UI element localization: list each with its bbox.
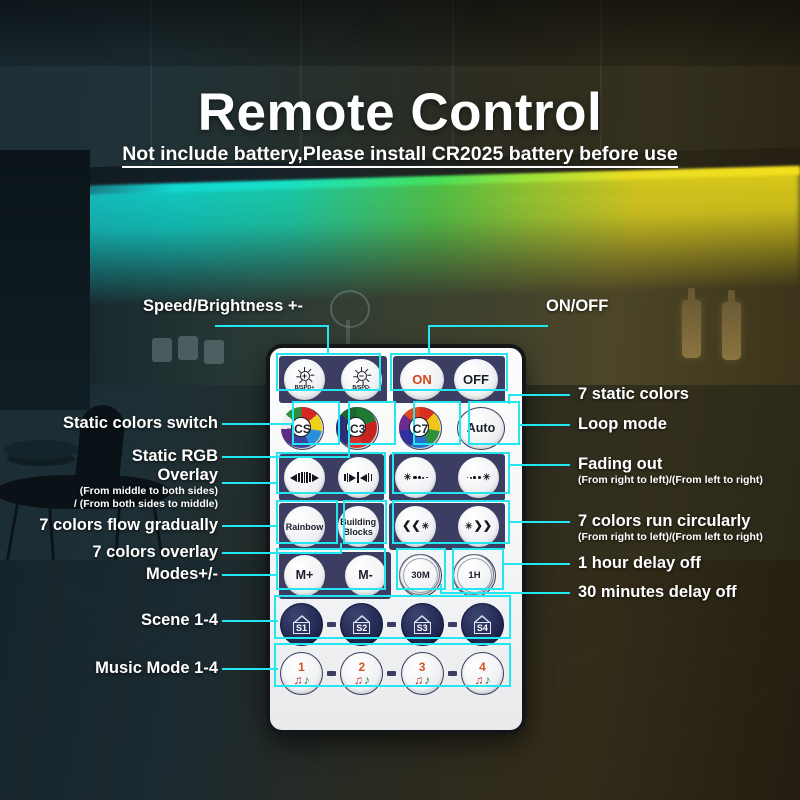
label-static-colors-switch: Static colors switch — [20, 414, 218, 433]
label-static-rgb-overlay: Static RGB Overlay (From middle to both … — [20, 447, 218, 510]
scene-4-label: S4 — [477, 624, 488, 633]
highlight-timer-1h-button — [452, 548, 504, 590]
jar — [152, 338, 172, 362]
leader-line-speed-brightness — [327, 325, 329, 355]
bottle — [682, 300, 701, 358]
timer-30-minutes-label: 30M — [411, 571, 429, 581]
house-icon: S2 — [352, 615, 371, 634]
house-icon: S3 — [413, 615, 432, 634]
highlight-power-group — [390, 353, 508, 391]
leader-line-fading-out — [508, 464, 570, 466]
leader-line-7-colors-overlay — [222, 552, 342, 554]
leader-line-overlay — [222, 482, 278, 484]
bottle — [722, 302, 741, 360]
fan-head-icon — [330, 290, 370, 328]
label-7-colors-flow-gradually: 7 colors flow gradually — [8, 516, 218, 535]
scene-1-label: S1 — [296, 624, 307, 633]
highlight-building-blocks-button — [343, 500, 387, 544]
cs-button-label: CS — [294, 423, 311, 435]
c7-button-label: C7 — [413, 423, 428, 435]
leader-line-7-colors-flow — [222, 525, 278, 527]
leader-line-music-mode — [222, 668, 278, 670]
highlight-auto-button — [468, 401, 520, 445]
page-subtitle-text: Not include battery,Please install CR202… — [122, 143, 678, 168]
house-icon: S4 — [473, 615, 492, 634]
label-loop-mode: Loop mode — [578, 415, 667, 434]
label-scene-1-4: Scene 1-4 — [8, 611, 218, 630]
highlight-circular-group — [392, 500, 510, 544]
leader-line-speed-brightness — [215, 325, 329, 327]
jar — [204, 340, 224, 364]
highlight-modes-group — [276, 548, 386, 590]
leader-line-scene — [222, 620, 278, 622]
leader-line-on-off — [428, 325, 430, 355]
leader-line-loop-mode — [518, 424, 570, 426]
house-icon: S1 — [292, 615, 311, 634]
label-fading-out: Fading out (From right to left)/(From le… — [578, 455, 763, 487]
left-wall-shadow — [0, 150, 90, 410]
page-subtitle: Not include battery,Please install CR202… — [0, 143, 800, 166]
highlight-brightness-group — [276, 353, 381, 391]
highlight-overlay-group — [276, 452, 386, 494]
leader-line-static-rgb — [222, 456, 350, 458]
label-7-colors-overlay: 7 colors overlay — [8, 543, 218, 562]
label-7-static-colors: 7 static colors — [578, 385, 689, 404]
page-title: Remote Control — [0, 82, 800, 143]
jar — [178, 336, 198, 360]
leader-line-1-hour-delay — [502, 563, 570, 565]
screenshot-stage: Remote Control Not include battery,Pleas… — [0, 0, 800, 800]
label-on-off: ON/OFF — [546, 297, 608, 316]
leader-line-7-colors-overlay — [340, 543, 342, 554]
timer-1-hour-label: 1H — [468, 571, 480, 581]
label-modes: Modes+/- — [8, 565, 218, 584]
leader-line-7-colors-run — [508, 521, 570, 523]
leader-line-static-colors-switch — [222, 423, 294, 425]
label-1-hour-delay-off: 1 hour delay off — [578, 554, 701, 573]
leader-line-static-rgb — [348, 440, 350, 458]
leader-line-30-minutes-delay — [440, 592, 570, 594]
c3-button-label: C3 — [350, 423, 365, 435]
scene-2-label: S2 — [356, 624, 367, 633]
highlight-fading-group — [392, 452, 510, 494]
highlight-timer-30m-button — [396, 548, 446, 590]
label-speed-brightness: Speed/Brightness +- — [143, 297, 303, 316]
label-music-mode-1-4: Music Mode 1-4 — [8, 659, 218, 678]
leader-line-modes — [222, 574, 278, 576]
label-30-minutes-delay-off: 30 minutes delay off — [578, 583, 737, 602]
scene-3-label: S3 — [417, 624, 428, 633]
leader-line-7-static-colors — [508, 394, 510, 404]
leader-line-7-static-colors — [508, 394, 570, 396]
leader-line-30-minutes-delay — [440, 584, 442, 594]
highlight-rainbow-button — [276, 500, 338, 544]
leader-line-on-off — [428, 325, 548, 327]
highlight-music-group — [274, 643, 511, 687]
ceiling-shadow — [0, 0, 800, 66]
label-7-colors-run-circularly: 7 colors run circularly (From right to l… — [578, 512, 763, 544]
